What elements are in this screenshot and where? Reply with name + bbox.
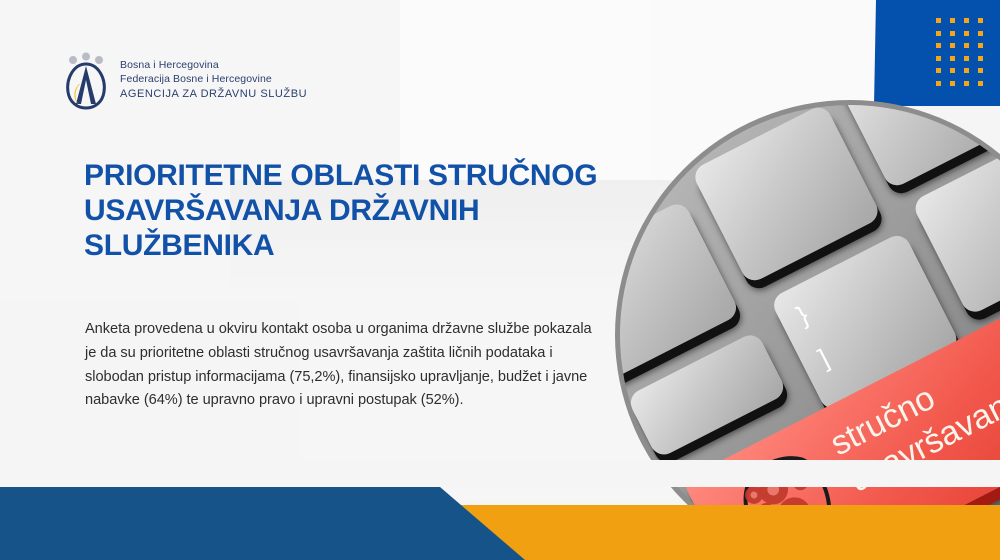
- orange-dot: [964, 56, 969, 61]
- bottom-white-strip: [0, 460, 1000, 487]
- logo-line-country: Bosna i Hercegovina: [120, 59, 307, 73]
- slide-canvas: Bosna i Hercegovina Federacija Bosne i H…: [0, 0, 1000, 560]
- orange-dot: [964, 43, 969, 48]
- orange-dot: [936, 68, 941, 73]
- orange-dot: [978, 68, 983, 73]
- orange-dot: [950, 18, 955, 23]
- orange-dot: [950, 43, 955, 48]
- orange-dot: [950, 81, 955, 86]
- orange-dot: [978, 56, 983, 61]
- orange-dot: [936, 18, 941, 23]
- orange-dot: [936, 81, 941, 86]
- key-glyph-brace-right: }: [792, 300, 814, 332]
- page-title: PRIORITETNE OBLASTI STRUČNOG USAVRŠAVANJ…: [84, 158, 604, 263]
- orange-dot: [936, 43, 941, 48]
- orange-dot: [964, 18, 969, 23]
- logo-line-federation: Federacija Bosne i Hercegovine: [120, 73, 307, 87]
- orange-dot: [964, 68, 969, 73]
- orange-dot: [950, 68, 955, 73]
- body-paragraph: Anketa provedena u okviru kontakt osoba …: [85, 318, 597, 413]
- agency-emblem-icon: [62, 52, 110, 110]
- orange-dot: [978, 81, 983, 86]
- orange-dot: [950, 56, 955, 61]
- orange-dot: [978, 31, 983, 36]
- logo-line-agency: AGENCIJA ZA DRŽAVNU SLUŽBU: [120, 87, 307, 103]
- orange-dot: [936, 56, 941, 61]
- agency-logo: Bosna i Hercegovina Federacija Bosne i H…: [62, 52, 307, 110]
- orange-dot: [936, 31, 941, 36]
- keyboard-photo-inner: { [ } ]: [620, 105, 1000, 560]
- agency-logo-text: Bosna i Hercegovina Federacija Bosne i H…: [120, 59, 307, 103]
- key-glyph-bracket-right: ]: [813, 343, 834, 374]
- orange-dot: [978, 43, 983, 48]
- orange-dot-grid: [936, 18, 992, 93]
- top-right-blue-panel: [874, 0, 1000, 106]
- orange-dot: [964, 81, 969, 86]
- keyboard-surface: { [ } ]: [620, 105, 1000, 560]
- orange-dot: [950, 31, 955, 36]
- orange-dot: [978, 18, 983, 23]
- orange-dot: [964, 31, 969, 36]
- keyboard-photo: { [ } ]: [615, 100, 1000, 560]
